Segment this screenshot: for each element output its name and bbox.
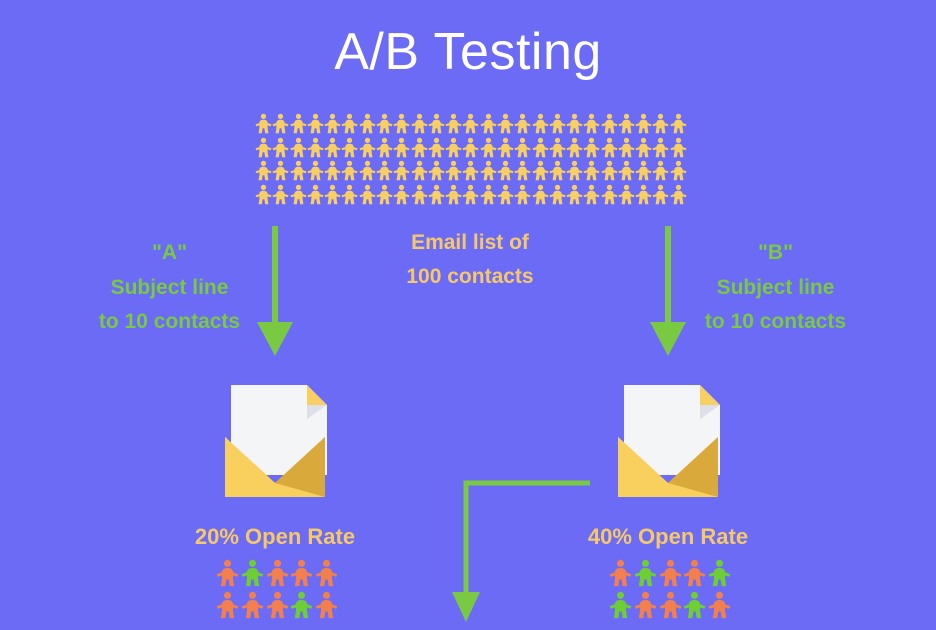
person-icon [307,113,324,134]
person-icon [324,160,341,181]
person-icon [411,160,428,181]
person-icon-unopened [216,559,239,587]
person-icon [393,137,410,158]
person-icon [411,184,428,205]
person-icon [549,184,566,205]
open-envelope-icon-variant-b [602,375,734,503]
infographic-canvas: A/B Testing "A" Subject line to 10 conta… [0,0,936,630]
audience-label-line1: Email list of [370,226,570,260]
person-icon-unopened [609,559,632,587]
person-icon [307,184,324,205]
person-icon [359,184,376,205]
audience-people-row [255,113,687,134]
person-icon-unopened [683,559,706,587]
person-icon [341,160,358,181]
variant-a-caption: "A" Subject line to 10 contacts [62,236,277,340]
person-icon [376,113,393,134]
person-icon [307,160,324,181]
person-icon [480,160,497,181]
person-icon [514,160,531,181]
person-icon [532,184,549,205]
person-icon-opened [241,559,264,587]
audience-label-line2: 100 contacts [370,260,570,294]
person-icon [255,137,272,158]
person-icon [583,184,600,205]
person-icon [324,184,341,205]
person-icon [290,137,307,158]
arrow-down-icon-variant-a [252,222,298,362]
person-icon-opened [634,559,657,587]
person-icon [635,184,652,205]
person-icon [514,113,531,134]
variant-b-result-people [609,559,731,619]
person-icon [652,113,669,134]
person-icon [497,160,514,181]
person-icon-unopened [634,591,657,619]
person-icon [566,113,583,134]
person-icon [652,184,669,205]
variant-b-caption: "B" Subject line to 10 contacts [668,236,883,340]
person-icon [376,184,393,205]
person-icon [376,137,393,158]
person-icon [376,160,393,181]
person-icon [549,113,566,134]
person-icon-unopened [290,559,313,587]
person-icon-unopened [241,591,264,619]
person-icon [670,160,687,181]
person-icon [411,137,428,158]
person-icon [462,160,479,181]
person-icon [532,160,549,181]
variant-a-subject-line: Subject line [62,271,277,306]
person-icon [272,137,289,158]
person-icon [532,137,549,158]
result-people-row [609,559,731,587]
person-icon-opened [609,591,632,619]
person-icon [272,113,289,134]
person-icon [583,137,600,158]
person-icon [480,113,497,134]
variant-b-recipients: to 10 contacts [668,305,883,340]
person-icon [635,113,652,134]
person-icon [532,113,549,134]
person-icon [428,160,445,181]
person-icon-opened [683,591,706,619]
person-icon [566,137,583,158]
person-icon [445,160,462,181]
person-icon [618,113,635,134]
person-icon [324,113,341,134]
variant-a-name: "A" [62,236,277,271]
person-icon-opened [290,591,313,619]
person-icon [255,160,272,181]
person-icon [583,113,600,134]
person-icon [670,113,687,134]
person-icon [601,184,618,205]
person-icon [601,160,618,181]
arrow-down-icon-variant-b [645,222,691,362]
person-icon-unopened [266,559,289,587]
audience-caption: Email list of 100 contacts [370,226,570,294]
person-icon [601,137,618,158]
person-icon [497,113,514,134]
person-icon [393,160,410,181]
variant-a-open-rate: 20% Open Rate [155,524,395,550]
person-icon [480,137,497,158]
person-icon [497,137,514,158]
audience-people-row [255,160,687,181]
person-icon [290,160,307,181]
person-icon [480,184,497,205]
person-icon [462,113,479,134]
person-icon [359,160,376,181]
person-icon-unopened [266,591,289,619]
person-icon [635,160,652,181]
result-people-row [216,591,338,619]
person-icon [652,137,669,158]
page-title: A/B Testing [0,24,936,81]
person-icon-opened [708,559,731,587]
person-icon [445,113,462,134]
person-icon-unopened [216,591,239,619]
person-icon [514,137,531,158]
variant-b-open-rate: 40% Open Rate [548,524,788,550]
person-icon-unopened [315,591,338,619]
person-icon [290,113,307,134]
person-icon [359,137,376,158]
person-icon [324,137,341,158]
person-icon-unopened [659,591,682,619]
person-icon-unopened [708,591,731,619]
person-icon [566,184,583,205]
open-envelope-icon-variant-a [209,375,341,503]
audience-people-grid [255,113,687,205]
person-icon [272,184,289,205]
person-icon [428,137,445,158]
variant-b-name: "B" [668,236,883,271]
person-icon [411,113,428,134]
person-icon [428,113,445,134]
variant-a-recipients: to 10 contacts [62,305,277,340]
person-icon [462,137,479,158]
variant-b-subject-line: Subject line [668,271,883,306]
person-icon [566,160,583,181]
person-icon [255,184,272,205]
person-icon [652,160,669,181]
person-icon [341,113,358,134]
person-icon [393,184,410,205]
person-icon [359,113,376,134]
audience-people-row [255,184,687,205]
result-people-row [216,559,338,587]
person-icon [255,113,272,134]
person-icon [549,160,566,181]
person-icon [272,160,289,181]
person-icon-unopened [659,559,682,587]
person-icon [601,113,618,134]
person-icon [290,184,307,205]
person-icon [670,184,687,205]
person-icon [445,184,462,205]
person-icon [445,137,462,158]
person-icon [497,184,514,205]
audience-people-row [255,137,687,158]
person-icon [618,184,635,205]
person-icon [514,184,531,205]
person-icon [670,137,687,158]
person-icon [549,137,566,158]
person-icon [428,184,445,205]
variant-a-result-people [216,559,338,619]
person-icon [307,137,324,158]
person-icon [341,137,358,158]
person-icon [635,137,652,158]
person-icon-unopened [315,559,338,587]
result-people-row [609,591,731,619]
person-icon [393,113,410,134]
person-icon [618,160,635,181]
person-icon [462,184,479,205]
person-icon [583,160,600,181]
person-icon [618,137,635,158]
elbow-arrow-down-icon [450,470,600,630]
person-icon [341,184,358,205]
